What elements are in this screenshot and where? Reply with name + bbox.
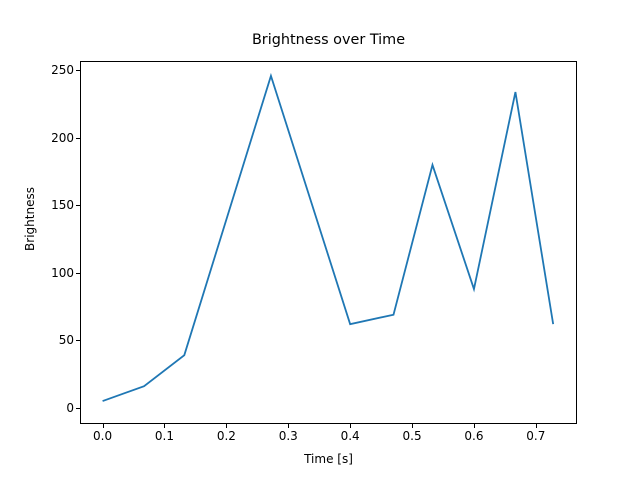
x-tick-mark xyxy=(226,424,227,428)
x-tick-mark xyxy=(536,424,537,428)
chart-title: Brightness over Time xyxy=(80,33,577,47)
plot-area xyxy=(80,61,577,424)
matplotlib-figure: Brightness over Time 050100150200250 0.0… xyxy=(0,0,640,480)
x-tick-mark xyxy=(288,424,289,428)
x-tick-label: 0.2 xyxy=(196,430,256,442)
y-tick-mark xyxy=(76,138,80,139)
y-tick-mark xyxy=(76,273,80,274)
x-tick-mark xyxy=(412,424,413,428)
y-tick-label: 50 xyxy=(14,334,74,346)
x-axis-label: Time [s] xyxy=(80,453,577,465)
y-tick-mark xyxy=(76,408,80,409)
x-tick-label: 0.0 xyxy=(73,430,133,442)
x-tick-mark xyxy=(164,424,165,428)
x-tick-mark xyxy=(350,424,351,428)
x-tick-mark xyxy=(474,424,475,428)
x-tick-label: 0.3 xyxy=(258,430,318,442)
y-tick-mark xyxy=(76,340,80,341)
y-tick-label: 0 xyxy=(14,402,74,414)
y-tick-mark xyxy=(76,205,80,206)
y-axis-label: Brightness xyxy=(24,169,36,269)
x-tick-label: 0.6 xyxy=(444,430,504,442)
x-tick-label: 0.4 xyxy=(320,430,380,442)
x-tick-mark xyxy=(103,424,104,428)
x-tick-label: 0.5 xyxy=(382,430,442,442)
y-tick-label: 250 xyxy=(14,64,74,76)
line-series-brightness xyxy=(103,76,554,401)
x-tick-label: 0.7 xyxy=(506,430,566,442)
y-tick-mark xyxy=(76,70,80,71)
y-axis-tick-labels: 050100150200250 xyxy=(8,0,74,480)
y-tick-label: 100 xyxy=(14,267,74,279)
y-tick-label: 200 xyxy=(14,132,74,144)
x-tick-label: 0.1 xyxy=(134,430,194,442)
